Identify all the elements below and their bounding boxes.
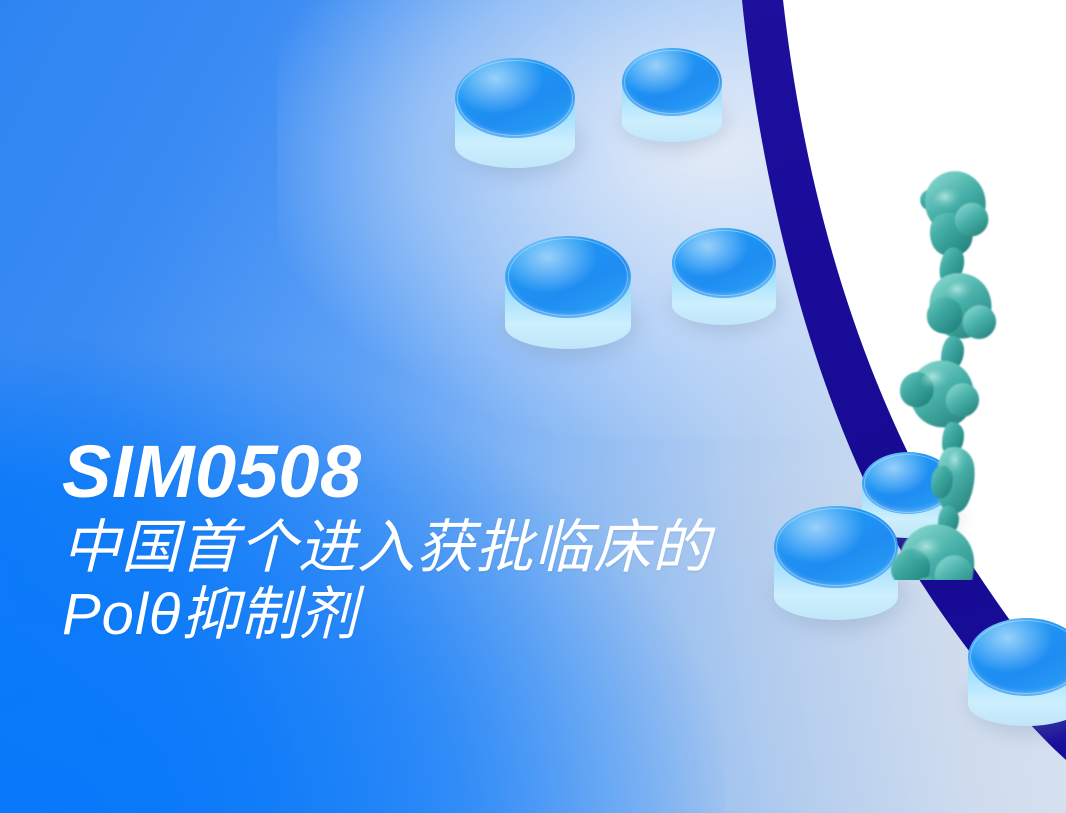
poster-canvas: SIM0508 中国首个进入获批临床的 Polθ抑制剂 bbox=[0, 0, 1066, 813]
pill-mid-left bbox=[505, 236, 631, 349]
subtitle-line-1: 中国首个进入获批临床的 bbox=[62, 515, 882, 581]
pill-bottom-right bbox=[968, 618, 1066, 726]
pill-top-face bbox=[505, 236, 631, 318]
pill-top-face bbox=[455, 58, 575, 138]
pill-top-left bbox=[455, 58, 575, 168]
pol-theta-protein-surface-render bbox=[880, 160, 1066, 580]
brand-title: SIM0508 bbox=[62, 434, 882, 509]
pill-top-right bbox=[622, 48, 722, 142]
subtitle: 中国首个进入获批临床的 Polθ抑制剂 bbox=[62, 515, 882, 647]
pill-top-face bbox=[672, 228, 776, 298]
subtitle-line-2: Polθ抑制剂 bbox=[62, 582, 882, 648]
pill-mid-right bbox=[672, 228, 776, 325]
pill-top-face bbox=[622, 48, 722, 116]
headline-block: SIM0508 中国首个进入获批临床的 Polθ抑制剂 bbox=[62, 434, 882, 648]
